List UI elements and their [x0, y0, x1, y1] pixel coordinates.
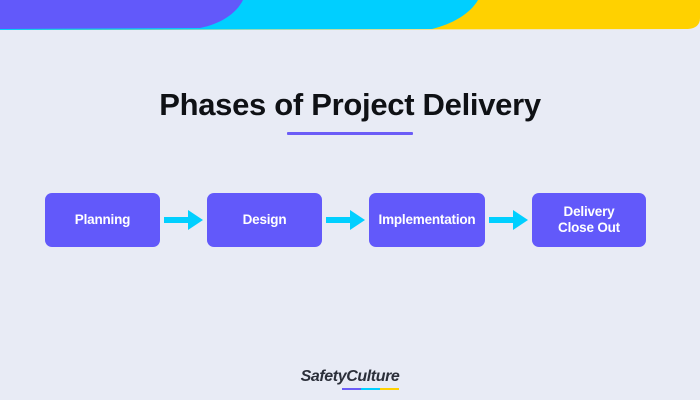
safetyculture-logo: SafetyCulture [301, 368, 400, 386]
phase-box-implementation[interactable]: Implementation [369, 193, 485, 247]
phase-label: Design [243, 212, 287, 228]
logo-text-safety: Safety [301, 368, 347, 385]
process-flow-diagram: Planning Design Implementation Delivery … [45, 193, 657, 247]
phase-box-delivery-close-out[interactable]: Delivery Close Out [532, 193, 646, 247]
phase-box-planning[interactable]: Planning [45, 193, 160, 247]
arrow-right-icon-1 [160, 207, 207, 233]
logo-underline-bar [342, 388, 399, 391]
page-title: Phases of Project Delivery [0, 86, 700, 124]
top-color-banner [0, 0, 700, 34]
title-block: Phases of Project Delivery [0, 86, 700, 135]
footer-logo: SafetyCulture [0, 368, 700, 386]
logo-underline-yellow [380, 388, 399, 391]
logo-underline-cyan [361, 388, 380, 391]
title-underline [287, 132, 413, 135]
arrow-right-icon-3 [485, 207, 532, 233]
phase-box-design[interactable]: Design [207, 193, 322, 247]
phase-label: Planning [75, 212, 130, 228]
logo-underline-purple [342, 388, 361, 391]
banner-purple-segment [0, 0, 243, 29]
phase-label: Implementation [379, 212, 476, 228]
arrow-right-icon-2 [322, 207, 369, 233]
phase-label: Delivery Close Out [558, 204, 620, 236]
logo-text-culture: Culture [346, 368, 399, 385]
